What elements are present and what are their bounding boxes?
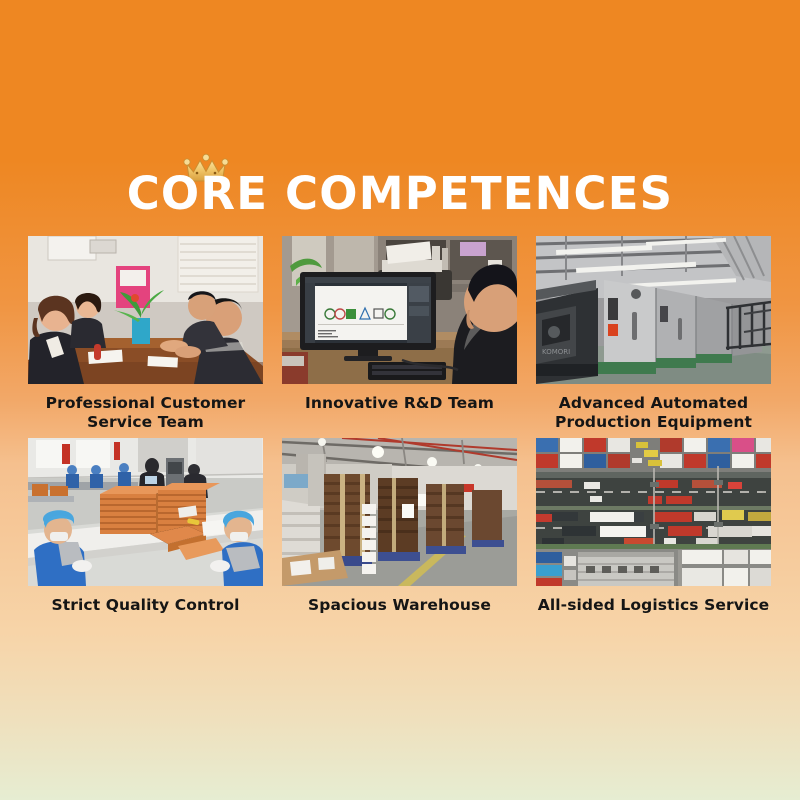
competence-caption: All-sided Logistics Service [536, 596, 771, 615]
meeting-room-photo [28, 236, 263, 384]
warehouse-photo [282, 438, 517, 586]
competence-tile-all-sided-logistics-service[interactable]: All-sided Logistics Service [536, 438, 771, 615]
competence-tile-strict-quality-control[interactable]: Strict Quality Control [28, 438, 263, 615]
caption-line-1: Advanced Automated [559, 394, 748, 412]
caption-line-2: Service Team [28, 413, 263, 432]
page-title-block: CORE COMPETENCES [0, 150, 800, 220]
caption-line-1: All-sided Logistics Service [538, 596, 770, 614]
core-competences-banner: CORE COMPETENCES [0, 0, 800, 800]
competence-caption: Innovative R&D Team [282, 394, 517, 413]
caption-line-1: Strict Quality Control [51, 596, 239, 614]
page-title: CORE COMPETENCES [0, 168, 800, 220]
competence-tile-advanced-automated-production-equipment[interactable]: KOMORI [536, 236, 771, 432]
designer-at-computer-photo [282, 236, 517, 384]
caption-line-1: Spacious Warehouse [308, 596, 491, 614]
competence-caption: Advanced Automated Production Equipment [536, 394, 771, 432]
competence-tile-innovative-rd-team[interactable]: Innovative R&D Team [282, 236, 517, 432]
competence-caption: Strict Quality Control [28, 596, 263, 615]
caption-line-1: Professional Customer [46, 394, 246, 412]
competences-grid: Professional Customer Service Team [28, 236, 772, 615]
printing-press-photo: KOMORI [536, 236, 771, 384]
competence-tile-spacious-warehouse[interactable]: Spacious Warehouse [282, 438, 517, 615]
competence-caption: Spacious Warehouse [282, 596, 517, 615]
svg-text:KOMORI: KOMORI [542, 348, 570, 356]
competence-tile-professional-customer-service-team[interactable]: Professional Customer Service Team [28, 236, 263, 432]
caption-line-2: Production Equipment [536, 413, 771, 432]
quality-inspection-photo [28, 438, 263, 586]
caption-line-1: Innovative R&D Team [305, 394, 494, 412]
logistics-yard-photo [536, 438, 771, 586]
competence-caption: Professional Customer Service Team [28, 394, 263, 432]
